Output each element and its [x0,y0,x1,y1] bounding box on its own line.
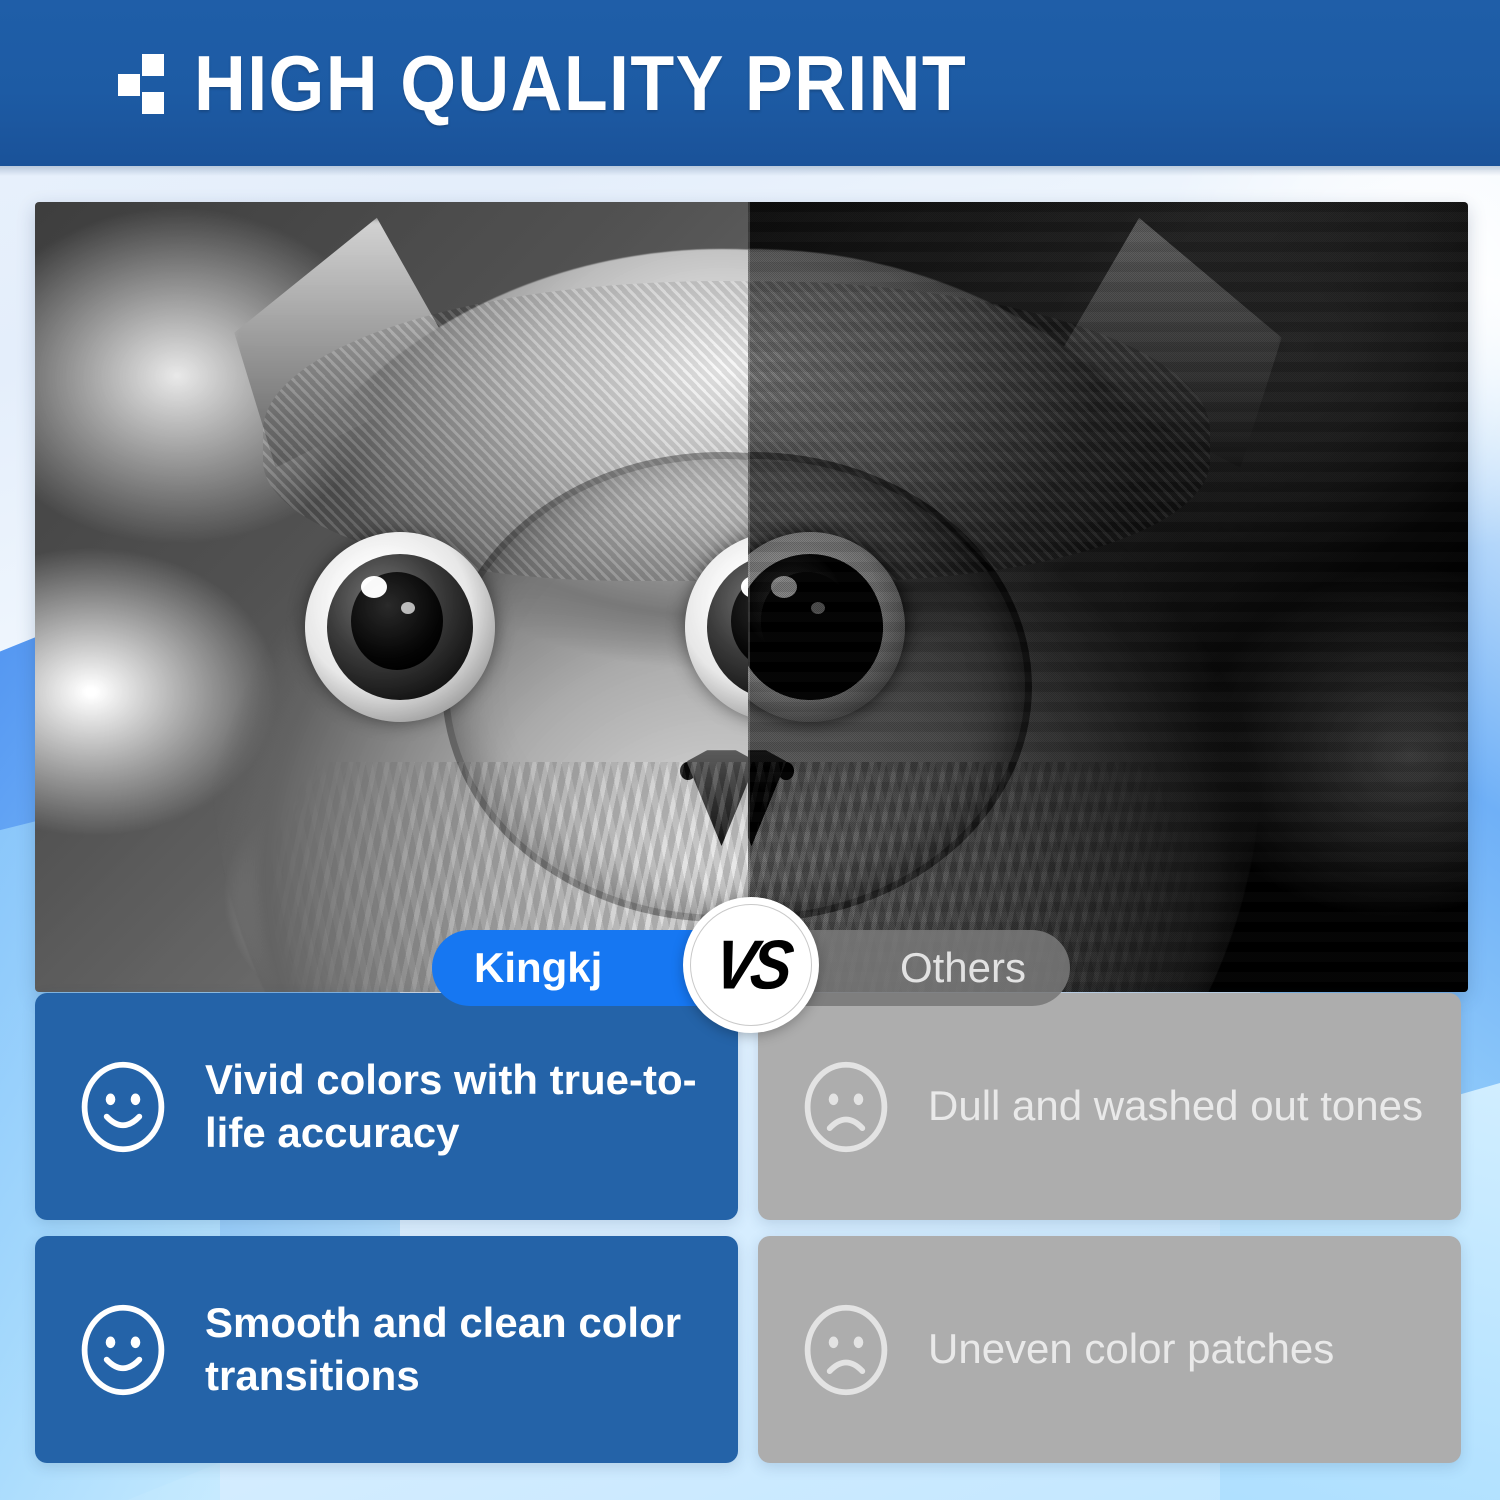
sad-face-icon [798,1059,894,1155]
others-pill-label: Others [900,944,1026,992]
three-squares-logo-icon [118,52,170,114]
comparison-label-row: Kingkj Others VS [0,930,1500,1006]
feature-text: Vivid colors with true-to-life accuracy [205,1054,704,1160]
vs-badge: VS [683,897,819,1033]
feature-text: Dull and washed out tones [928,1080,1423,1133]
feature-grid: Vivid colors with true-to-life accuracy … [35,993,1468,1479]
page-title: HIGH QUALITY PRINT [194,44,967,122]
feature-card-bad-1: Dull and washed out tones [758,993,1461,1220]
feature-row-2: Smooth and clean color transitions Uneve… [35,1236,1468,1463]
smiley-face-icon [75,1059,171,1155]
feature-text: Uneven color patches [928,1323,1334,1376]
feature-text: Smooth and clean color transitions [205,1297,704,1403]
comparison-photo [35,202,1468,992]
feature-card-good-2: Smooth and clean color transitions [35,1236,738,1463]
feature-card-good-1: Vivid colors with true-to-life accuracy [35,993,738,1220]
photo-split-seam [748,202,750,992]
smiley-face-icon [75,1302,171,1398]
header-banner-shadow [0,166,1500,176]
photo-half-kingkj [35,202,748,992]
brand-pill-label: Kingkj [474,944,602,992]
sad-face-icon [798,1302,894,1398]
feature-card-bad-2: Uneven color patches [758,1236,1461,1463]
owl-illustration-bad [748,202,1468,992]
header-banner: HIGH QUALITY PRINT [0,0,1500,166]
owl-illustration-good [35,202,748,992]
photo-half-others [748,202,1468,992]
vs-badge-label: VS [709,925,793,1005]
